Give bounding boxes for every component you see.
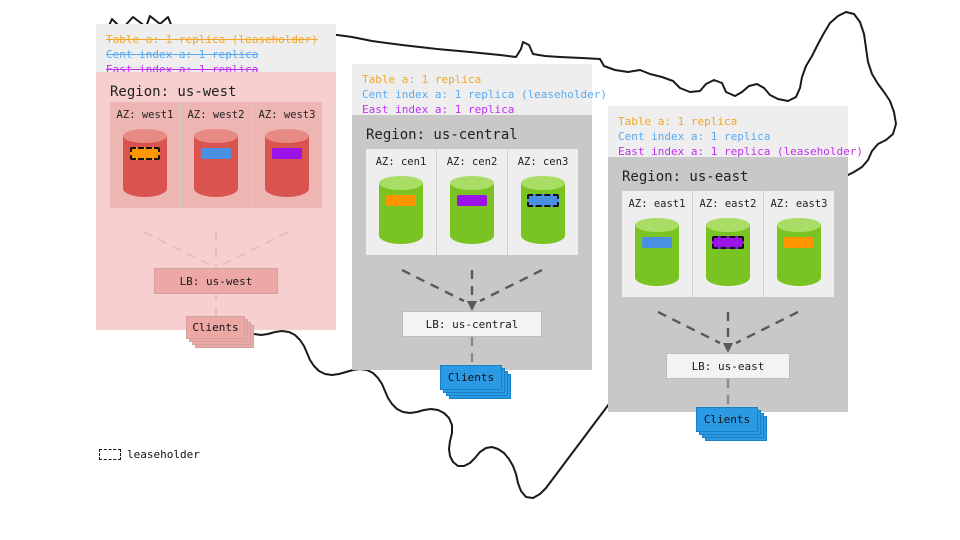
load-balancer-us-east[interactable]: LB: us-east [666,353,790,379]
clients-us-central[interactable]: Clients [440,365,512,399]
region-body-us-east: Region: us-east AZ: east1 [608,157,848,412]
clients-label-us-central: Clients [440,365,502,390]
legend: leaseholder [99,448,200,461]
region-header-us-west: Table a: 1 replica (leaseholder) Cent in… [96,24,336,72]
az-east1[interactable]: AZ: east1 [622,191,692,297]
clients-label-us-east: Clients [696,407,758,432]
replica-block-east3 [784,237,814,248]
node-cylinder-cen2[interactable] [450,176,494,244]
region-header-us-east: Table a: 1 replica Cent index a: 1 repli… [608,106,848,157]
replica-block-west2 [201,148,231,159]
az-container-us-east: AZ: east1 AZ: east2 [622,191,834,297]
az-label-cen3: AZ: cen3 [518,156,569,168]
az-label-east3: AZ: east3 [771,198,828,210]
replica-block-cen2 [457,195,487,206]
az-container-us-west: AZ: west1 AZ: west2 [110,102,322,208]
az-west2[interactable]: AZ: west2 [180,102,251,208]
replica-line-cent-index: Cent index a: 1 replica (leaseholder) [362,87,582,102]
replica-line-table: Table a: 1 replica [362,72,582,87]
region-body-us-west: Region: us-west AZ: west1 [96,72,336,330]
node-cylinder-west2[interactable] [194,129,238,197]
region-header-us-central: Table a: 1 replica Cent index a: 1 repli… [352,64,592,115]
clients-label-us-west: Clients [186,316,245,339]
load-balancer-us-central[interactable]: LB: us-central [402,311,542,337]
node-cylinder-east2[interactable] [706,218,750,286]
replica-block-east2-leaseholder [712,236,744,249]
region-panel-us-east[interactable]: Table a: 1 replica Cent index a: 1 repli… [608,106,848,412]
az-west3[interactable]: AZ: west3 [251,102,322,208]
az-label-west3: AZ: west3 [259,109,316,121]
replica-block-east1 [642,237,672,248]
leaseholder-swatch-icon [99,449,121,460]
replica-line-table: Table a: 1 replica [618,114,838,129]
az-label-cen2: AZ: cen2 [447,156,498,168]
az-label-west1: AZ: west1 [117,109,174,121]
node-cylinder-west1[interactable] [123,129,167,197]
region-panel-us-west[interactable]: Table a: 1 replica (leaseholder) Cent in… [96,24,336,330]
replica-line-table: Table a: 1 replica (leaseholder) [106,32,326,47]
az-west1[interactable]: AZ: west1 [110,102,180,208]
az-label-cen1: AZ: cen1 [376,156,427,168]
node-cylinder-east1[interactable] [635,218,679,286]
node-cylinder-west3[interactable] [265,129,309,197]
az-east3[interactable]: AZ: east3 [763,191,834,297]
legend-label: leaseholder [127,448,200,461]
region-body-us-central: Region: us-central AZ: cen1 [352,115,592,370]
az-cen2[interactable]: AZ: cen2 [436,149,507,255]
az-container-us-central: AZ: cen1 AZ: cen2 AZ [366,149,578,255]
diagram-canvas: Table a: 1 replica (leaseholder) Cent in… [0,0,960,540]
node-cylinder-cen3[interactable] [521,176,565,244]
az-east2[interactable]: AZ: east2 [692,191,763,297]
az-label-east1: AZ: east1 [629,198,686,210]
az-cen1[interactable]: AZ: cen1 [366,149,436,255]
replica-block-west1-leaseholder [130,147,160,160]
replica-block-cen3-leaseholder [527,194,559,207]
node-cylinder-cen1[interactable] [379,176,423,244]
az-cen3[interactable]: AZ: cen3 [507,149,578,255]
replica-block-west3 [272,148,302,159]
load-balancer-us-west[interactable]: LB: us-west [154,268,278,294]
region-panel-us-central[interactable]: Table a: 1 replica Cent index a: 1 repli… [352,64,592,370]
replica-line-cent-index: Cent index a: 1 replica [106,47,326,62]
replica-line-cent-index: Cent index a: 1 replica [618,129,838,144]
az-label-west2: AZ: west2 [188,109,245,121]
clients-us-west[interactable]: Clients [186,316,254,348]
az-label-east2: AZ: east2 [700,198,757,210]
replica-block-cen1 [386,195,416,206]
clients-us-east[interactable]: Clients [696,407,768,441]
node-cylinder-east3[interactable] [777,218,821,286]
